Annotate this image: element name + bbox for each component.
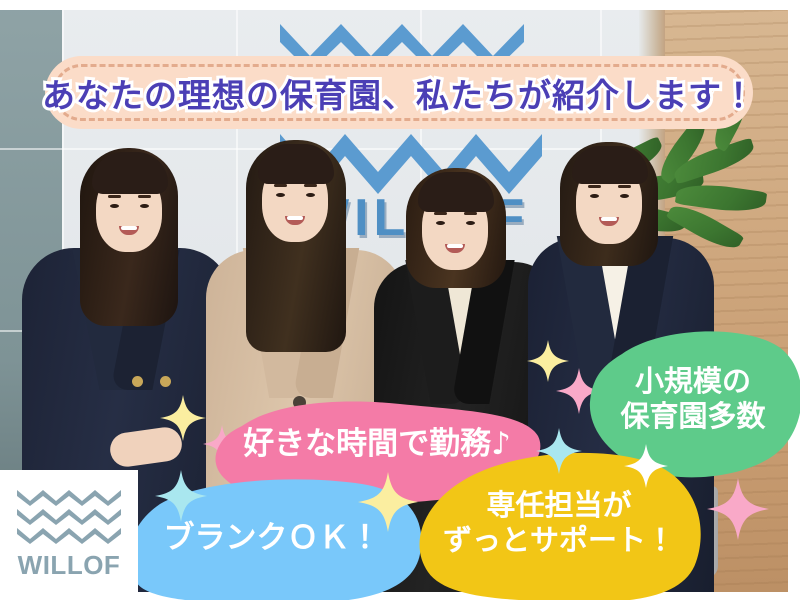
willof-logo-card: WILLOF xyxy=(0,470,138,600)
logo-zigzag-row xyxy=(17,489,121,506)
sparkle-white-1-icon xyxy=(624,444,668,488)
sparkle-yellow-2-icon xyxy=(358,472,418,532)
sparkle-pink-3-icon xyxy=(707,478,769,540)
headline-banner: あなたの理想の保育園、私たちが紹介します！ xyxy=(45,56,753,129)
sparkle-yellow-1-icon xyxy=(160,395,206,441)
willof-wordmark: WILLOF xyxy=(18,550,121,581)
sparkle-cyan-2-icon xyxy=(536,428,582,474)
photo-frame-right xyxy=(788,0,800,600)
headline-text: あなたの理想の保育園、私たちが紹介します！ xyxy=(42,69,756,117)
promo-banner-image: WILLOF xyxy=(0,0,800,600)
logo-zigzag-row xyxy=(17,527,121,544)
photo-frame-top xyxy=(0,0,800,10)
logo-zigzag-row xyxy=(17,508,121,525)
sparkle-cyan-1-icon xyxy=(155,470,207,522)
